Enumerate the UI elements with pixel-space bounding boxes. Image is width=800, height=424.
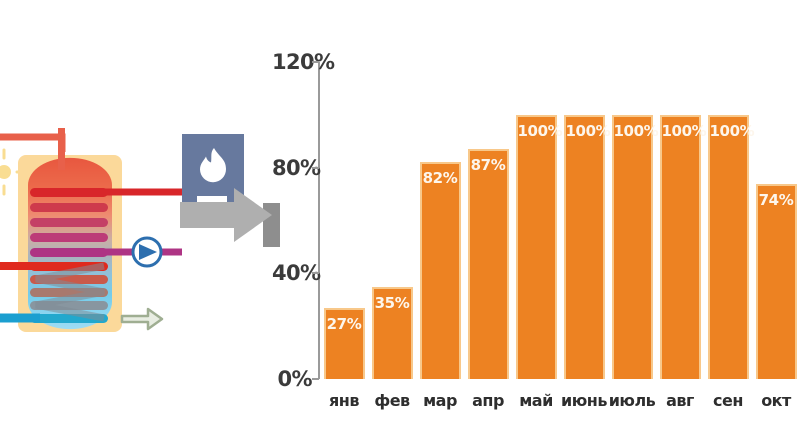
y-tick-mark: [312, 272, 319, 274]
x-axis-label: янв: [320, 391, 368, 410]
right-arrow: [178, 186, 274, 244]
bar[interactable]: 100%: [612, 115, 653, 379]
bar-chart: 0%40%80%120% 27%янв35%фев82%мар87%апр100…: [272, 40, 800, 420]
x-axis-label: июль: [608, 391, 656, 410]
hot-supply-pipe: [0, 137, 62, 152]
bar[interactable]: 35%: [372, 287, 413, 379]
bar-value-label: 35%: [374, 294, 411, 312]
y-tick-mark: [312, 167, 319, 169]
bar-value-label: 100%: [614, 122, 651, 140]
bar-value-label: 100%: [518, 122, 555, 140]
x-axis-label: фев: [368, 391, 416, 410]
bar[interactable]: 87%: [468, 149, 509, 379]
circulation-pump: [133, 238, 161, 266]
tank-inlet-pipe: [58, 128, 65, 170]
bar-value-label: 100%: [710, 122, 747, 140]
x-axis-label: мар: [416, 391, 464, 410]
plot-area: 27%янв35%фев82%мар87%апр100%май100%июнь1…: [320, 40, 800, 420]
x-axis-label: авг: [656, 391, 704, 410]
bar[interactable]: 100%: [660, 115, 701, 379]
bar[interactable]: 100%: [708, 115, 749, 379]
bar-value-label: 87%: [470, 156, 507, 174]
bar[interactable]: 100%: [516, 115, 557, 379]
x-axis-label: июнь: [560, 391, 608, 410]
bar-value-label: 100%: [662, 122, 699, 140]
screenshot-root: 0%40%80%120% 27%янв35%фев82%мар87%апр100…: [0, 0, 800, 420]
y-tick-label: 40%: [272, 261, 312, 285]
y-tick-label: 0%: [272, 367, 312, 391]
y-tick-mark: [312, 61, 319, 63]
right-arrow-icon: [180, 188, 272, 242]
outlet-vent-arrow: [122, 309, 162, 329]
bar-value-label: 74%: [758, 191, 795, 209]
bar[interactable]: 100%: [564, 115, 605, 379]
x-axis-label: окт: [752, 391, 800, 410]
bar-value-label: 100%: [566, 122, 603, 140]
y-tick-label: 120%: [272, 50, 312, 74]
bar-value-label: 27%: [326, 315, 363, 333]
bar[interactable]: 27%: [324, 308, 365, 379]
bar[interactable]: 74%: [756, 184, 797, 379]
x-axis-label: май: [512, 391, 560, 410]
y-tick-mark: [312, 378, 319, 380]
x-axis-label: сен: [704, 391, 752, 410]
bar-value-label: 82%: [422, 169, 459, 187]
x-axis-label: апр: [464, 391, 512, 410]
bar[interactable]: 82%: [420, 162, 461, 379]
y-tick-label: 80%: [272, 156, 312, 180]
y-axis-labels: 0%40%80%120%: [272, 40, 312, 420]
